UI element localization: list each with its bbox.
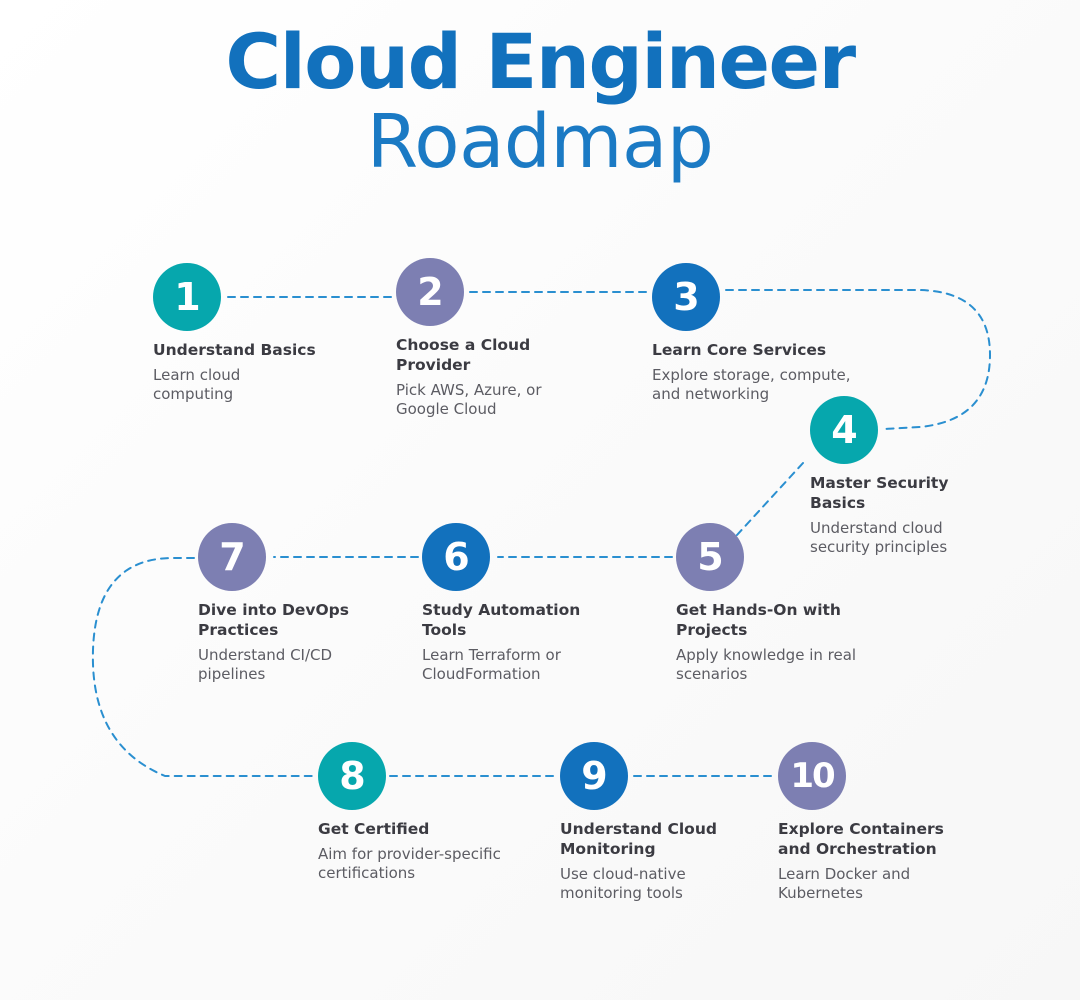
step-3[interactable]: 3 Learn Core Services Explore storage, c… — [652, 263, 882, 405]
step-10[interactable]: 10 Explore Containersand Orchestration L… — [778, 742, 988, 904]
step-5[interactable]: 5 Get Hands-On withProjects Apply knowle… — [676, 523, 876, 685]
step-7-title: Dive into DevOpsPractices — [198, 601, 398, 641]
step-1-text: Understand Basics Learn cloudcomputing — [153, 341, 363, 405]
title-line-2: Roadmap — [0, 101, 1080, 184]
step-9-badge: 9 — [560, 742, 628, 810]
step-8-text: Get Certified Aim for provider-specificc… — [318, 820, 528, 884]
step-7[interactable]: 7 Dive into DevOpsPractices Understand C… — [198, 523, 398, 685]
step-2-badge: 2 — [396, 258, 464, 326]
step-6[interactable]: 6 Study AutomationTools Learn Terraform … — [422, 523, 622, 685]
step-9-title: Understand CloudMonitoring — [560, 820, 760, 860]
step-6-desc: Learn Terraform orCloudFormation — [422, 646, 622, 685]
infographic-canvas: Cloud Engineer Roadmap 1 Understand Basi… — [0, 0, 1080, 1000]
step-10-title: Explore Containersand Orchestration — [778, 820, 988, 860]
page-title: Cloud Engineer Roadmap — [0, 22, 1080, 183]
step-1-badge: 1 — [153, 263, 221, 331]
step-6-badge: 6 — [422, 523, 490, 591]
step-2[interactable]: 2 Choose a CloudProvider Pick AWS, Azure… — [396, 258, 596, 420]
step-3-badge: 3 — [652, 263, 720, 331]
step-4-number: 4 — [831, 411, 856, 449]
step-1-title: Understand Basics — [153, 341, 363, 361]
step-5-desc: Apply knowledge in realscenarios — [676, 646, 876, 685]
step-9[interactable]: 9 Understand CloudMonitoring Use cloud-n… — [560, 742, 760, 904]
title-line-1: Cloud Engineer — [0, 22, 1080, 103]
step-6-title: Study AutomationTools — [422, 601, 622, 641]
step-7-desc: Understand CI/CDpipelines — [198, 646, 398, 685]
step-7-number: 7 — [219, 538, 244, 576]
step-9-number: 9 — [581, 757, 606, 795]
step-5-badge: 5 — [676, 523, 744, 591]
step-7-text: Dive into DevOpsPractices Understand CI/… — [198, 601, 398, 685]
step-10-number: 10 — [790, 759, 833, 793]
step-9-text: Understand CloudMonitoring Use cloud-nat… — [560, 820, 760, 904]
step-8[interactable]: 8 Get Certified Aim for provider-specifi… — [318, 742, 528, 884]
step-8-desc: Aim for provider-specificcertifications — [318, 845, 528, 884]
step-2-desc: Pick AWS, Azure, orGoogle Cloud — [396, 381, 596, 420]
step-8-title: Get Certified — [318, 820, 528, 840]
step-8-number: 8 — [339, 757, 364, 795]
step-6-number: 6 — [443, 538, 468, 576]
step-1[interactable]: 1 Understand Basics Learn cloudcomputing — [153, 263, 363, 405]
step-10-badge: 10 — [778, 742, 846, 810]
step-4-title: Master SecurityBasics — [810, 474, 1010, 514]
step-10-desc: Learn Docker andKubernetes — [778, 865, 988, 904]
step-5-text: Get Hands-On withProjects Apply knowledg… — [676, 601, 876, 685]
step-8-badge: 8 — [318, 742, 386, 810]
step-5-title: Get Hands-On withProjects — [676, 601, 876, 641]
step-2-title: Choose a CloudProvider — [396, 336, 596, 376]
step-9-desc: Use cloud-nativemonitoring tools — [560, 865, 760, 904]
step-2-text: Choose a CloudProvider Pick AWS, Azure, … — [396, 336, 596, 420]
step-1-number: 1 — [174, 278, 199, 316]
step-2-number: 2 — [417, 273, 442, 311]
step-4-badge: 4 — [810, 396, 878, 464]
step-3-number: 3 — [673, 278, 698, 316]
step-3-title: Learn Core Services — [652, 341, 882, 361]
step-6-text: Study AutomationTools Learn Terraform or… — [422, 601, 622, 685]
step-1-desc: Learn cloudcomputing — [153, 366, 363, 405]
step-10-text: Explore Containersand Orchestration Lear… — [778, 820, 988, 904]
step-7-badge: 7 — [198, 523, 266, 591]
step-5-number: 5 — [697, 538, 722, 576]
